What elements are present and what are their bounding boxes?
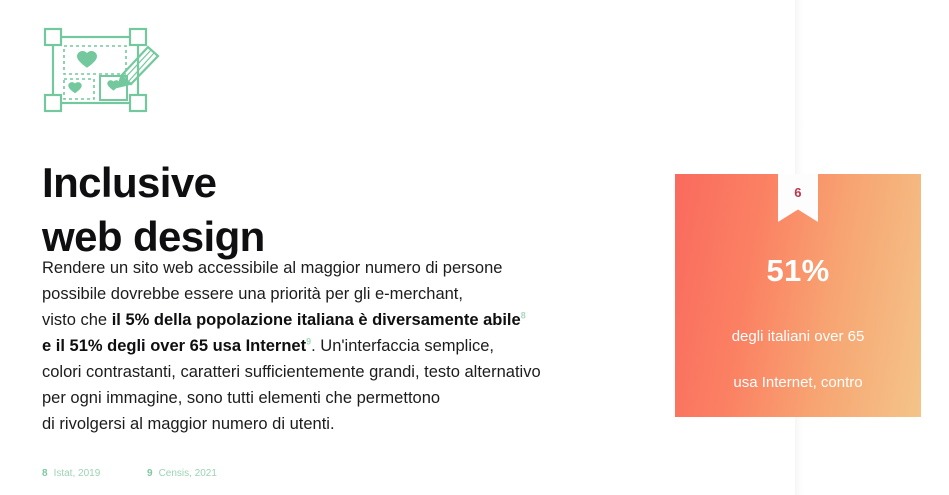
left-content-column: Inclusive web design Rendere un sito web… <box>42 0 662 495</box>
ribbon-badge: 6 <box>778 174 818 222</box>
design-canvas-pencil-hearts-icon <box>42 26 162 118</box>
stat-card: 6 51% degli italiani over 65 usa Interne… <box>675 174 921 417</box>
stat-description-line-1: degli italiani over 65 <box>732 328 865 345</box>
body-line-5: colori contrastanti, caratteri sufficien… <box>42 363 541 381</box>
body-line-3-prefix: visto che <box>42 311 112 329</box>
footnote-source: Istat, 2019 <box>54 466 101 482</box>
footnote-list: 8 Istat, 2019 9 Censis, 2021 <box>42 466 252 482</box>
ribbon-badge-number: 6 <box>794 185 801 200</box>
footnote-marker-8[interactable]: 8 <box>521 311 526 321</box>
body-line-2: possibile dovrebbe essere una priorità p… <box>42 285 463 303</box>
body-line-7: di rivolgersi al maggior numero di utent… <box>42 415 335 433</box>
footnote-item: 8 Istat, 2019 <box>42 466 147 482</box>
body-paragraph: Rendere un sito web accessibile al maggi… <box>42 255 642 437</box>
body-line-1: Rendere un sito web accessibile al maggi… <box>42 259 502 277</box>
footnote-item: 9 Censis, 2021 <box>147 466 252 482</box>
body-line-6: per ogni immagine, sono tutti elementi c… <box>42 389 440 407</box>
footnote-source: Censis, 2021 <box>159 466 217 482</box>
footnote-number: 8 <box>42 466 48 482</box>
body-line-4-suffix: . Un'interfaccia semplice, <box>311 337 494 355</box>
body-emphasis-2: e il 51% degli over 65 usa Internet <box>42 337 306 355</box>
stat-description-line-2: usa Internet, contro <box>733 374 862 391</box>
stat-description: degli italiani over 65 usa Internet, con… <box>675 302 921 417</box>
slide-canvas: Inclusive web design Rendere un sito web… <box>0 0 949 495</box>
body-emphasis-1: il 5% della popolazione italiana è diver… <box>112 311 521 329</box>
footnote-number: 9 <box>147 466 153 482</box>
page-title: Inclusive web design <box>42 156 265 264</box>
stat-value: 51% <box>675 253 921 289</box>
